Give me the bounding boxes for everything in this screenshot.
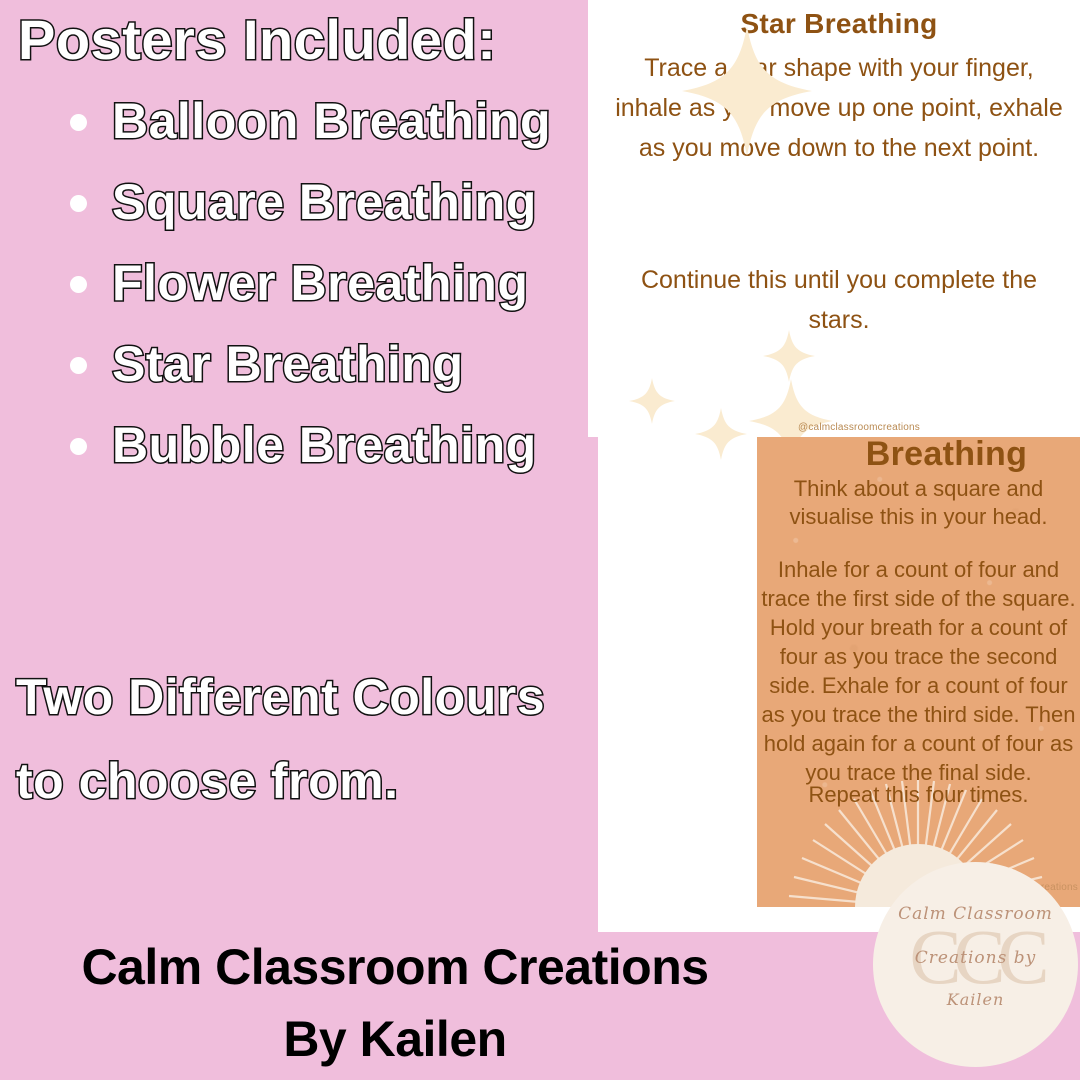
bullet-dot-icon [70,357,87,374]
list-item-bubble-breathing: Bubble Breathing [60,406,600,485]
list-item-label: Star Breathing [112,336,464,392]
included-posters-list: Balloon Breathing Square Breathing Flowe… [60,82,600,487]
left-text-column: Posters Included: Balloon Breathing Squa… [0,0,600,930]
square-poster-paragraph-3: Repeat this four times. [767,782,1070,808]
logo-badge: CCC Calm Classroom Creations by Kailen [873,862,1078,1067]
star-poster-paragraph-1: Trace a star shape with your finger, inh… [612,48,1066,168]
star-poster-title: Star Breathing [598,8,1080,40]
sparkle-icon-small-bottom [695,408,747,460]
list-item-balloon-breathing: Balloon Breathing [60,82,600,161]
promo-graphic-canvas: Star Breathing Trace a star shape with y… [0,0,1080,1080]
list-item-square-breathing: Square Breathing [60,163,600,242]
list-item-label: Flower Breathing [112,255,528,311]
list-item-star-breathing: Star Breathing [60,325,600,404]
brand-name-line-1: Calm Classroom Creations [0,938,790,996]
sparkle-icon-small-left [629,378,675,424]
logo-script-line-2: Creations by [873,948,1078,968]
square-breathing-poster: Breathing Think about a square and visua… [757,437,1080,907]
logo-script-line-3: Kailen [873,990,1078,1009]
logo-script-line-1: Calm Classroom [873,904,1078,924]
star-poster-paragraph-2: Continue this until you complete the sta… [612,260,1066,340]
star-poster-watermark: @calmclassroomcreations [798,422,920,433]
list-item-label: Square Breathing [112,174,537,230]
square-poster-paragraph-2: Inhale for a count of four and trace the… [761,555,1076,787]
bullet-dot-icon [70,195,87,212]
page-title: Posters Included: [18,8,496,72]
bullet-dot-icon [70,438,87,455]
list-item-flower-breathing: Flower Breathing [60,244,600,323]
square-poster-title: Breathing [757,437,1080,474]
colour-options-note: Two Different Colours to choose from. [16,655,596,823]
bullet-dot-icon [70,276,87,293]
sparkle-icon-small-top [763,330,815,382]
list-item-label: Balloon Breathing [112,93,551,149]
square-poster-paragraph-1: Think about a square and visualise this … [767,475,1070,531]
bullet-dot-icon [70,114,87,131]
list-item-label: Bubble Breathing [112,417,537,473]
brand-name-line-2: By Kailen [0,1010,790,1068]
sparkle-icon-large [682,26,812,156]
